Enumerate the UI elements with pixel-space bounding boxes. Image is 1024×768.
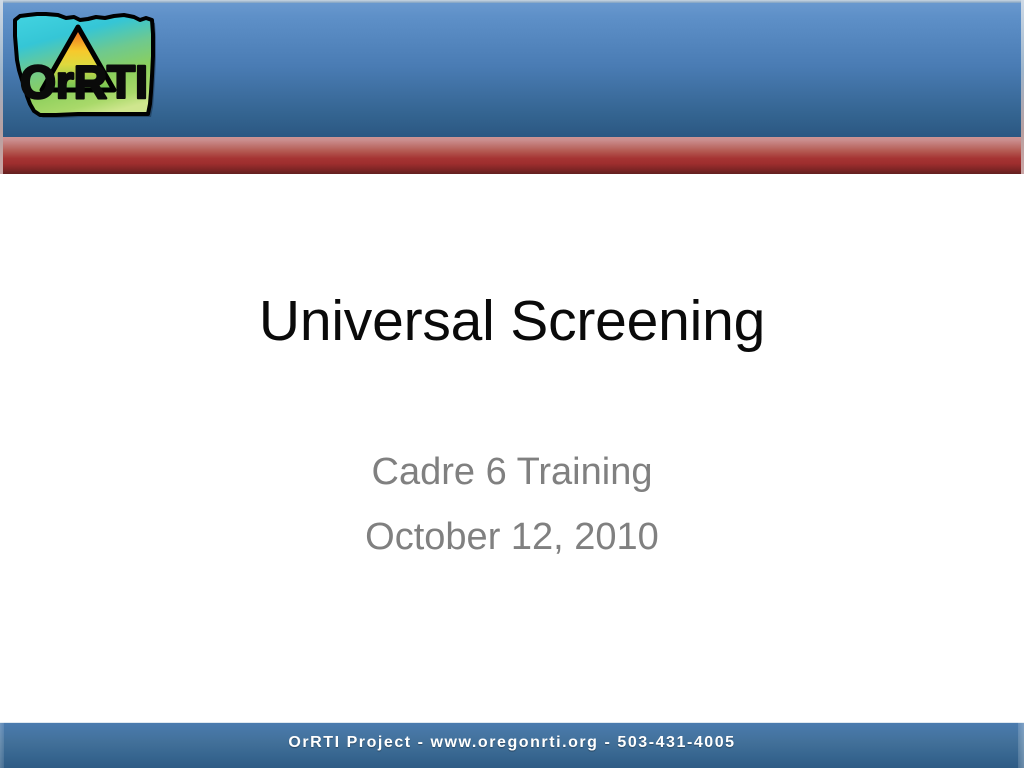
subtitle-line-1: Cadre 6 Training: [0, 440, 1024, 505]
header-left-edge: [0, 0, 3, 174]
presentation-slide: OrRTI Universal Screening Cadre 6 Traini…: [0, 0, 1024, 768]
subtitle-line-2: October 12, 2010: [0, 505, 1024, 570]
orrti-logo[interactable]: OrRTI: [6, 4, 166, 131]
slide-subtitle: Cadre 6 Training October 12, 2010: [0, 440, 1024, 571]
orrti-logo-icon: OrRTI: [6, 4, 166, 131]
slide-content-area: Universal Screening Cadre 6 Training Oct…: [0, 174, 1024, 722]
header-top-highlight: [0, 0, 1024, 3]
logo-wordmark: OrRTI: [20, 56, 148, 108]
slide-title: Universal Screening: [0, 292, 1024, 352]
footer-text: OrRTI Project - www.oregonrti.org - 503-…: [0, 734, 1024, 752]
footer-top-highlight: [0, 722, 1024, 723]
header-accent-band: [0, 137, 1024, 174]
